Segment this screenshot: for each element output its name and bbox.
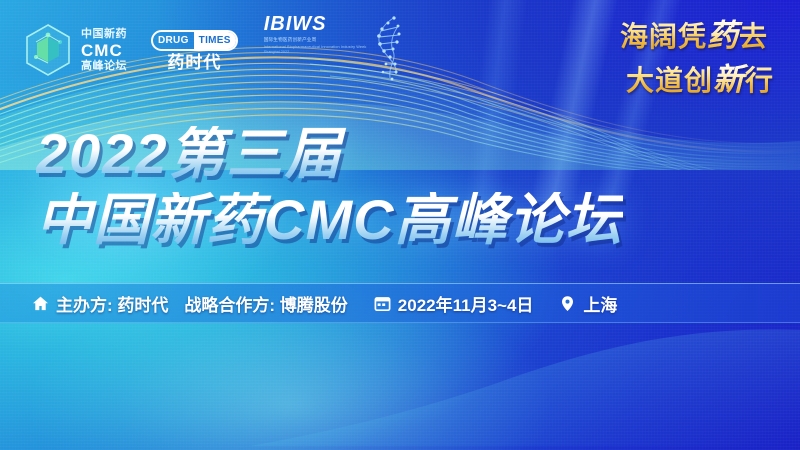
slogan-line2-part1: 大道创 [626, 65, 713, 96]
slogan-line1-part1: 海阔凭 [620, 21, 707, 52]
ibiws-subtitle-year: Shanghai 2022 [264, 50, 367, 56]
calendar-icon [374, 295, 391, 312]
slogan-line-1: 海阔凭药去 [620, 18, 768, 54]
info-partner-label: 战略合作方: 博腾股份 [184, 291, 347, 316]
event-poster: 中国新药 CMC 高峰论坛 DRUG TIMES 药时代 IBIWS 国际生物医… [0, 0, 800, 450]
info-organizer-label: 主办方: 药时代 [56, 291, 168, 316]
drug-times-pill: DRUG TIMES [151, 30, 238, 51]
drug-times-word1: DRUG [153, 32, 194, 49]
cmc-logo-line3: 高峰论坛 [81, 61, 127, 72]
info-partner: 战略合作方: 博腾股份 [184, 291, 347, 316]
info-location: 上海 [559, 291, 617, 316]
cmc-logo-line2: CMC [81, 42, 127, 59]
hexagon-molecule-logo [24, 23, 72, 77]
info-location-label: 上海 [583, 291, 617, 316]
slogan-line-2: 大道创新行 [620, 62, 774, 98]
cmc-logo-line1: 中国新药 [81, 29, 127, 40]
gold-slogan: 海阔凭药去 大道创新行 [620, 18, 768, 98]
drug-times-chinese: 药时代 [167, 54, 221, 71]
event-info-band: 主办方: 药时代 战略合作方: 博腾股份 2022年11月3~4日 [0, 283, 800, 323]
title-line-2: 中国新药CMC高峰论坛 [36, 192, 623, 248]
slogan-line1-highlight: 药 [707, 18, 739, 53]
drug-times-word2: TIMES [194, 32, 236, 49]
slogan-line1-part3: 去 [739, 21, 768, 52]
page-title: 2022第三届 中国新药CMC高峰论坛 [36, 126, 623, 248]
ibiws-subtitle-cn: 国际生物医药创新产业周 [264, 37, 367, 44]
logo-ibiws[interactable]: IBIWS 国际生物医药创新产业周 International Biopharm… [264, 14, 409, 86]
ibiws-acronym: IBIWS [264, 14, 367, 34]
info-date-label: 2022年11月3~4日 [398, 291, 534, 316]
info-date: 2022年11月3~4日 [374, 291, 534, 316]
logo-bar: 中国新药 CMC 高峰论坛 DRUG TIMES 药时代 IBIWS 国际生物医… [24, 14, 408, 86]
home-icon [32, 295, 49, 312]
dna-helix-icon [368, 14, 408, 86]
slogan-line2-part3: 行 [745, 65, 774, 96]
logo-cmc-forum[interactable]: 中国新药 CMC 高峰论坛 [24, 23, 127, 77]
slogan-line2-highlight: 新 [713, 62, 745, 97]
location-icon [559, 295, 576, 312]
logo-drug-times[interactable]: DRUG TIMES 药时代 [151, 30, 238, 71]
title-line-1: 2022第三届 [36, 126, 623, 182]
info-organizer: 主办方: 药时代 [32, 291, 168, 316]
